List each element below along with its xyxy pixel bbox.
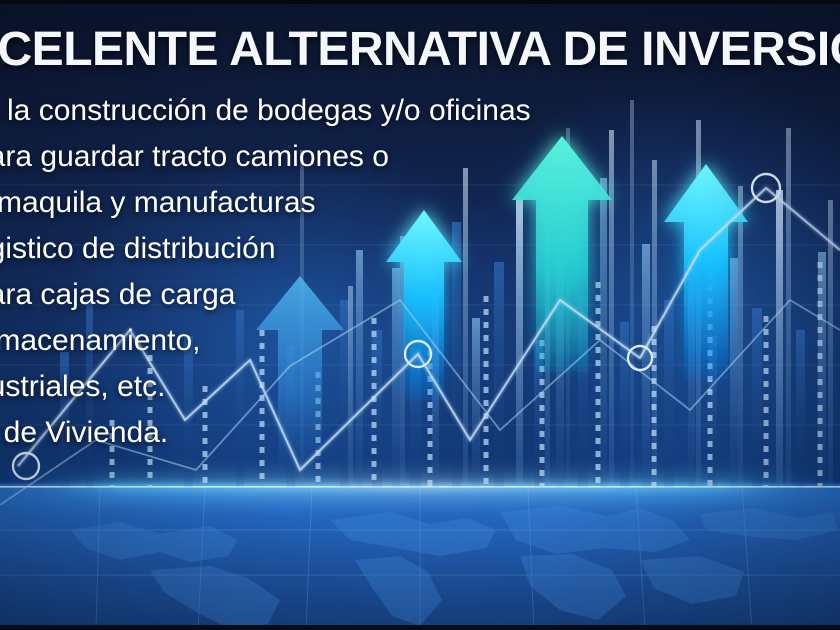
body-line: almacenamiento, — [0, 318, 732, 364]
body-line: dustriales, etc. — [0, 364, 732, 410]
top-edge-strip — [0, 0, 840, 4]
body-line: para cajas de carga — [0, 272, 732, 318]
slide-canvas: XCELENTE ALTERNATIVA DE INVERSIÓN ra la … — [0, 0, 840, 630]
body-line: lo de Vivienda. — [0, 410, 732, 456]
page-title: XCELENTE ALTERNATIVA DE INVERSIÓN — [0, 22, 840, 77]
body-line: e maquila y manufacturas — [0, 180, 732, 226]
body-text-block: ra la construcción de bodegas y/o oficin… — [0, 88, 732, 456]
body-line: ra la construcción de bodegas y/o oficin… — [0, 88, 732, 134]
body-line: para guardar tracto camiones o — [0, 134, 732, 180]
bottom-edge-strip — [0, 625, 840, 630]
body-line: ogistico de distribución — [0, 226, 732, 272]
